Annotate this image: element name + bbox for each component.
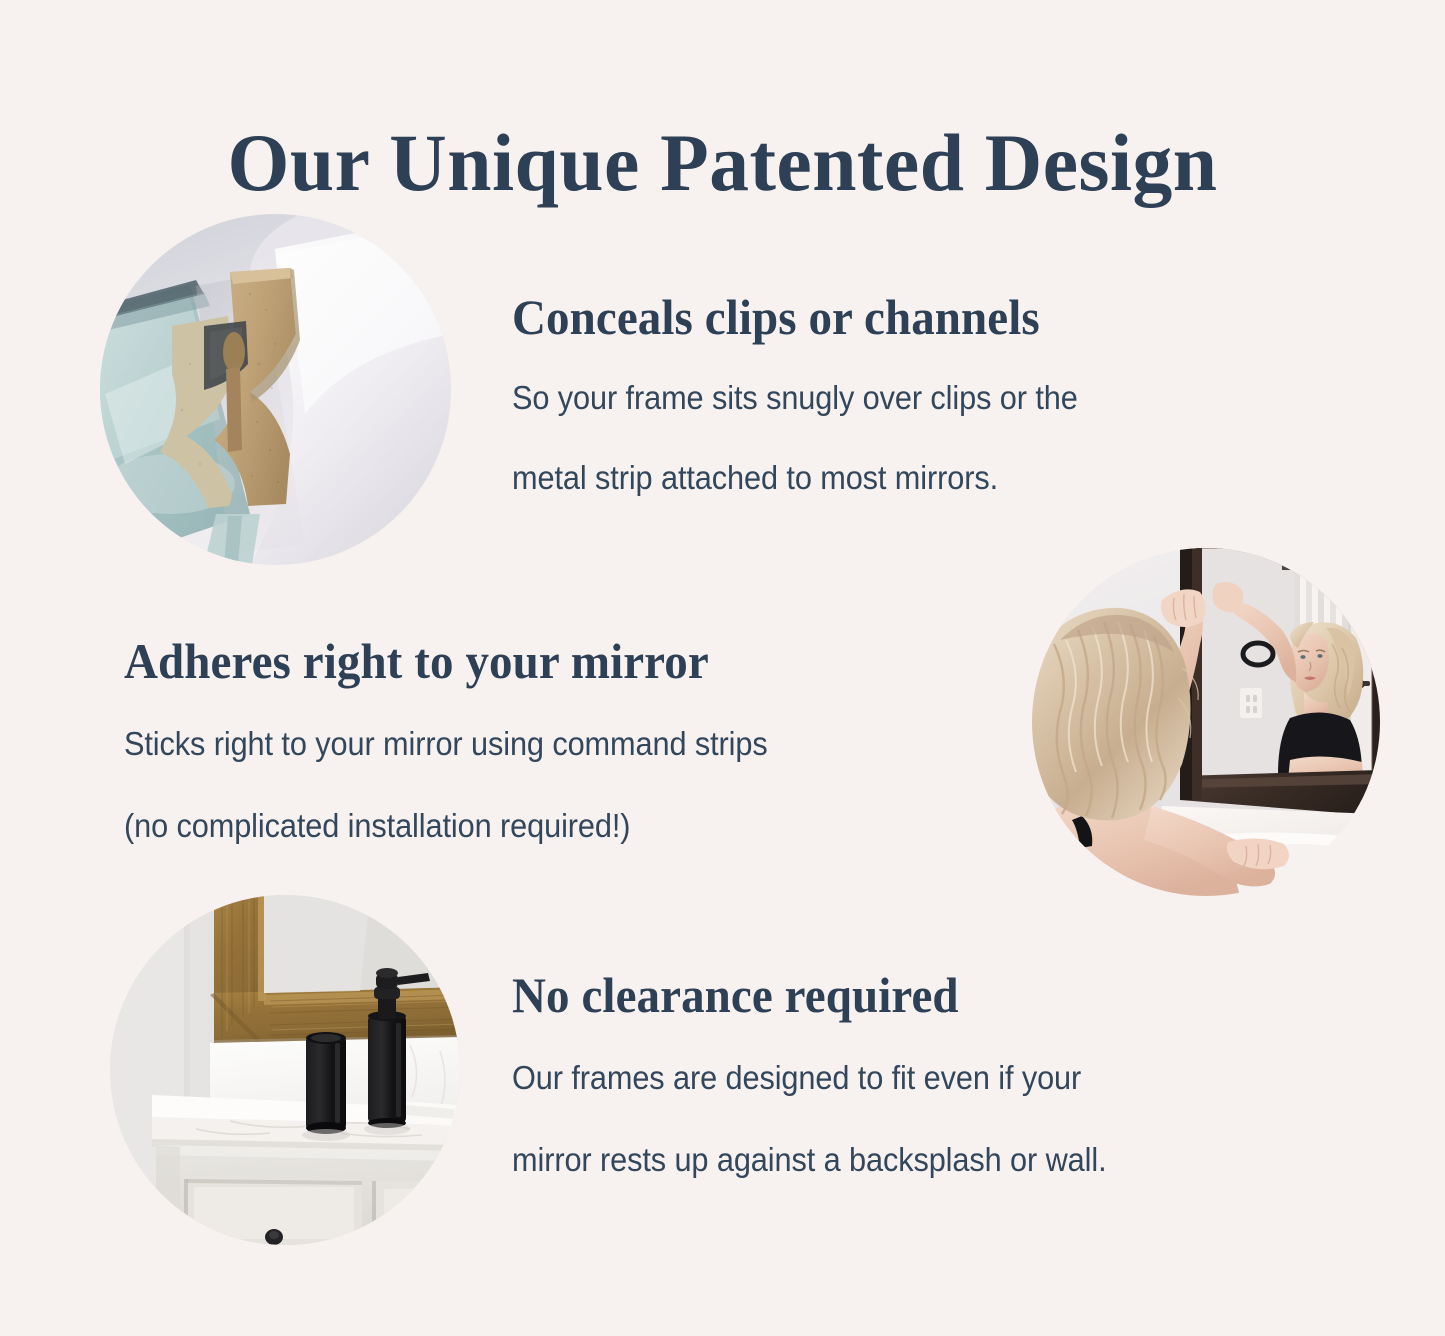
feature-text-adheres-right-to-your-mirror: Adheres right to your mirror Sticks righ… <box>124 632 816 854</box>
page-title: Our Unique Patented Design <box>22 117 1424 209</box>
feature-body-line-2: (no complicated installation required!) <box>124 798 768 854</box>
feature-heading-conceals-clips: Conceals clips or channels <box>512 288 1084 346</box>
feature-body-line-2: metal strip attached to most mirrors. <box>512 450 1078 506</box>
feature-heading-no-clearance-required: No clearance required <box>512 966 1113 1024</box>
feature-text-no-clearance-required: No clearance required Our frames are des… <box>512 966 1151 1188</box>
vanity-wood-framed-mirror-photo <box>110 895 460 1245</box>
feature-heading-adheres-to-mirror: Adheres right to your mirror <box>124 632 775 690</box>
feature-body-line-1: Our frames are designed to fit even if y… <box>512 1050 1107 1106</box>
frame-profile-over-mirror-clip-photo <box>100 214 451 565</box>
woman-installing-mirror-frame-photo <box>1032 548 1380 896</box>
feature-body-line-1: So your frame sits snugly over clips or … <box>512 370 1078 426</box>
feature-text-conceals-clips-or-channels: Conceals clips or channels So your frame… <box>512 288 1120 506</box>
feature-body-line-2: mirror rests up against a backsplash or … <box>512 1132 1107 1188</box>
patented-design-section: Our Unique Patented Design <box>0 0 1445 1336</box>
feature-body-line-1: Sticks right to your mirror using comman… <box>124 716 768 772</box>
